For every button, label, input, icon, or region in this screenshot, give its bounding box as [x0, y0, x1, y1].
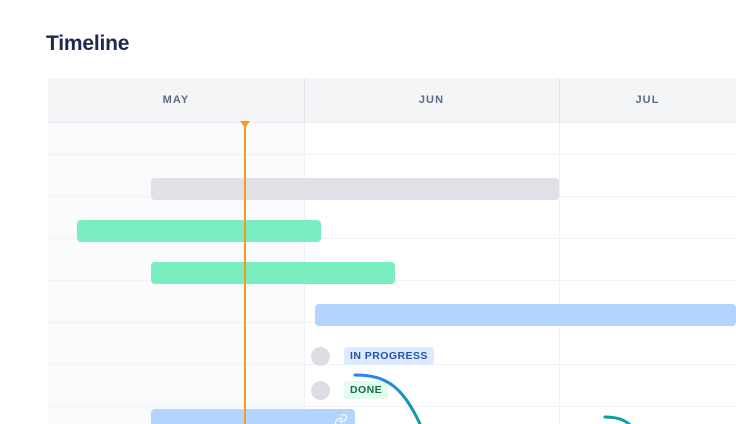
- status-row-in-progress[interactable]: IN PROGRESS: [311, 345, 434, 367]
- link-icon: [334, 413, 348, 424]
- bar-task-green-1[interactable]: [77, 220, 321, 242]
- row-divider: [48, 406, 736, 407]
- timeline-chart[interactable]: MAYJUNJUL IN PROGRESSDONE: [48, 78, 736, 424]
- month-header-may: MAY: [48, 78, 304, 122]
- avatar[interactable]: [311, 347, 330, 366]
- bar-task-green-2[interactable]: [151, 262, 395, 284]
- status-badge: IN PROGRESS: [344, 347, 434, 365]
- month-header-jun: JUN: [304, 78, 559, 122]
- column-divider: [559, 123, 560, 424]
- status-badge: DONE: [344, 381, 388, 399]
- today-marker[interactable]: [244, 122, 246, 424]
- page-title: Timeline: [46, 30, 129, 58]
- month-divider: [559, 78, 560, 123]
- month-header-jul: JUL: [559, 78, 736, 122]
- month-divider: [304, 78, 305, 123]
- row-divider: [48, 154, 736, 155]
- bar-task-blue-2[interactable]: [151, 409, 355, 424]
- status-row-done[interactable]: DONE: [311, 379, 388, 401]
- bar-task-blue-1[interactable]: [315, 304, 736, 326]
- today-marker-flag-icon: [240, 121, 250, 128]
- avatar[interactable]: [311, 381, 330, 400]
- bar-epic-gray[interactable]: [151, 178, 559, 200]
- month-header: MAYJUNJUL: [48, 78, 736, 123]
- timeline-page: Timeline MAYJUNJUL IN PROGRESSDONE: [0, 0, 736, 424]
